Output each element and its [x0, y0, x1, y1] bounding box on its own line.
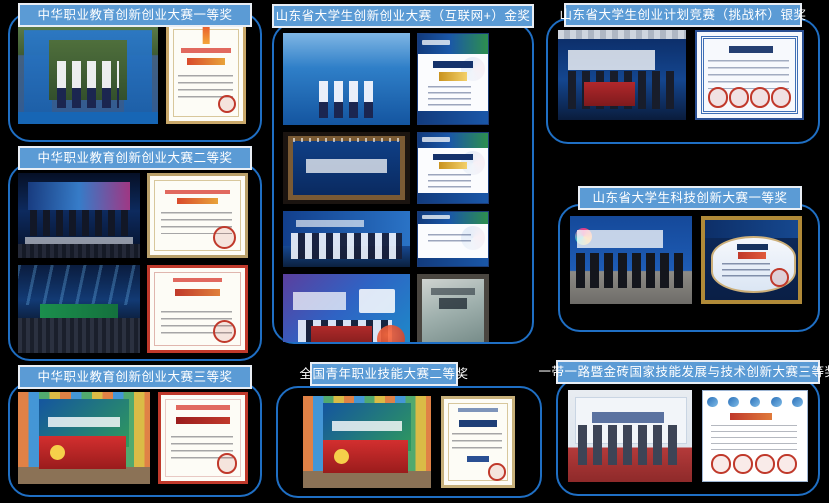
photo-youth-skills-flag[interactable] — [303, 396, 431, 488]
certificate-youth-skills-silver[interactable] — [441, 396, 515, 488]
award-panel-8-title: 一带一路暨金砖国家技能发展与技术创新大赛三等奖 — [556, 360, 820, 384]
photo-auditorium[interactable] — [18, 265, 140, 353]
photo-challenge-cup-team[interactable] — [558, 30, 686, 120]
certificate-gold-award-3[interactable] — [417, 211, 489, 267]
photo-team-red-banner[interactable] — [18, 392, 150, 484]
photo-internet-plus-stage[interactable] — [283, 132, 410, 204]
award-panel-1-body — [10, 14, 260, 140]
award-panel-1[interactable] — [8, 12, 262, 142]
certificate-brics-third-prize[interactable] — [702, 390, 808, 482]
award-panel-6[interactable] — [558, 204, 820, 332]
certificate-gold-award-2[interactable] — [417, 132, 489, 204]
photo-ceremony-lineup[interactable] — [283, 211, 410, 267]
award-panel-4[interactable] — [272, 22, 534, 344]
award-panel-8-body — [558, 380, 818, 494]
award-panel-5[interactable] — [546, 18, 820, 144]
photo-2024-innovation-contest[interactable] — [283, 274, 410, 342]
awards-wall: 中华职业教育创新创业大赛一等奖 中华职业教育创新创业大赛二等奖 — [0, 0, 829, 503]
plaque-gold-award[interactable] — [417, 274, 489, 342]
award-panel-5-title: 山东省大学生创业计划竞赛（挑战杯）银奖 — [564, 3, 802, 27]
award-panel-2-body — [10, 165, 260, 359]
award-panel-4-body — [274, 24, 532, 342]
award-panel-5-body — [548, 20, 818, 142]
certificate-third-prize[interactable] — [158, 392, 248, 484]
certificate-first-prize[interactable] — [166, 22, 246, 124]
award-panel-2[interactable] — [8, 163, 262, 361]
photo-award-ceremony-outdoor[interactable] — [18, 22, 158, 124]
photo-sci-tech-group[interactable] — [570, 216, 692, 304]
award-panel-6-title: 山东省大学生科技创新大赛一等奖 — [578, 186, 802, 210]
award-panel-2-title: 中华职业教育创新创业大赛二等奖 — [18, 146, 252, 170]
certificate-silver-award[interactable] — [695, 30, 804, 120]
award-panel-3-body — [10, 384, 260, 495]
award-panel-3[interactable] — [8, 382, 262, 497]
award-panel-6-body — [560, 206, 818, 330]
award-panel-1-title: 中华职业教育创新创业大赛一等奖 — [18, 3, 252, 27]
photo-brics-group[interactable] — [568, 390, 692, 482]
certificate-second-prize-framed[interactable] — [147, 173, 248, 258]
award-panel-3-title: 中华职业教育创新创业大赛三等奖 — [18, 365, 252, 389]
photo-stage-ceremony[interactable] — [18, 173, 140, 258]
certificate-second-prize[interactable] — [147, 265, 248, 353]
award-panel-4-title: 山东省大学生创新创业大赛（互联网+）金奖 — [272, 4, 534, 28]
award-panel-7-body — [278, 388, 540, 496]
award-panel-7[interactable] — [276, 386, 542, 498]
photo-internet-plus-backdrop[interactable] — [283, 33, 410, 125]
certificate-gold-award-1[interactable] — [417, 33, 489, 125]
award-panel-7-title: 全国青年职业技能大赛二等奖 — [310, 362, 458, 386]
award-panel-8[interactable] — [556, 378, 820, 496]
certificate-sci-tech-first-prize[interactable] — [701, 216, 802, 304]
